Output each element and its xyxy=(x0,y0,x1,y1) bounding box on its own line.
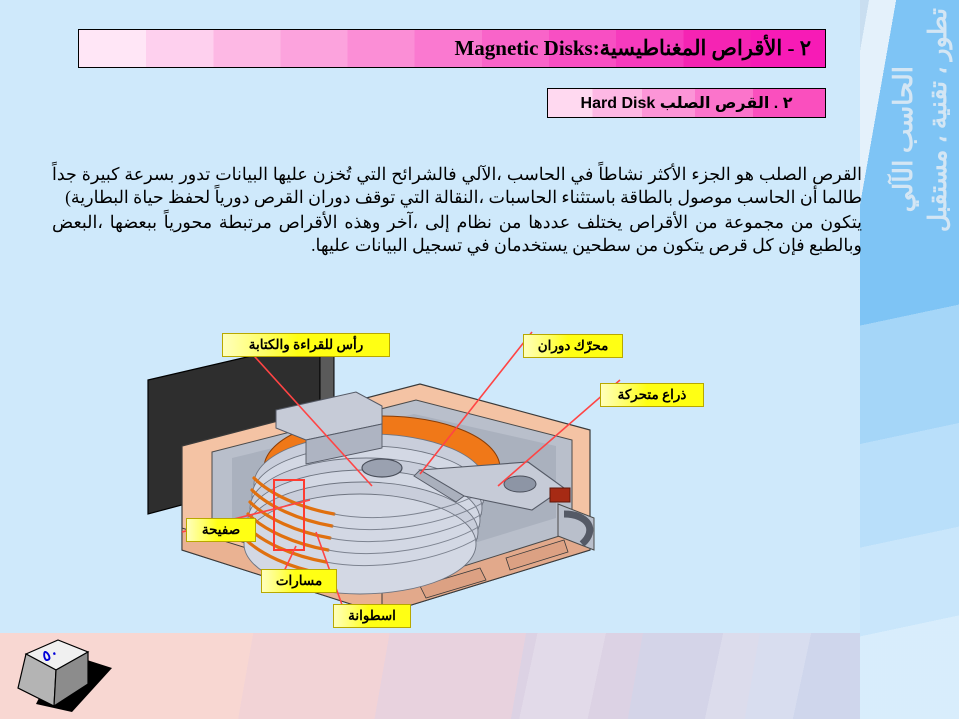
diagram-label-tracks: مسارات xyxy=(261,569,337,593)
page-number-key: ٥٠ xyxy=(14,626,136,718)
subtitle-text: ٢ . القرص الصلب Hard Disk xyxy=(581,93,793,113)
diagram-label-platter: صفيحة xyxy=(186,518,256,542)
diagram-label-spindle-motor: محرّك دوران xyxy=(523,334,623,358)
spindle-motor-icon xyxy=(362,459,402,477)
bottom-decorative-strip xyxy=(0,633,959,719)
body-text-block: القرص الصلب هو الجزء الأكثر نشاطاً في ال… xyxy=(52,163,862,259)
page-title: ٢ - الأقراص المغناطيسية:Magnetic Disks xyxy=(454,36,811,61)
diagram-label-actuator-arm: ذراع متحركة xyxy=(600,383,704,407)
diagram-label-read-write-head: رأس للقراءة والكتابة xyxy=(222,333,390,357)
body-paragraph-1: القرص الصلب هو الجزء الأكثر نشاطاً في ال… xyxy=(52,163,862,209)
body-paragraph-2: يتكون من مجموعة من الأقراص يختلف عددها م… xyxy=(52,211,862,257)
diagram-label-cylinder: اسطوانة xyxy=(333,604,411,628)
slide-canvas: تطور ، تقنية ، مستقبل الحاسب الآلي ٢ - ا… xyxy=(0,0,959,719)
hard-disk-diagram xyxy=(120,318,760,638)
right-decorative-band xyxy=(860,0,959,719)
slide-subtitle-box: ٢ . القرص الصلب Hard Disk xyxy=(547,88,826,118)
slide-title-bar: ٢ - الأقراص المغناطيسية:Magnetic Disks xyxy=(78,29,826,68)
